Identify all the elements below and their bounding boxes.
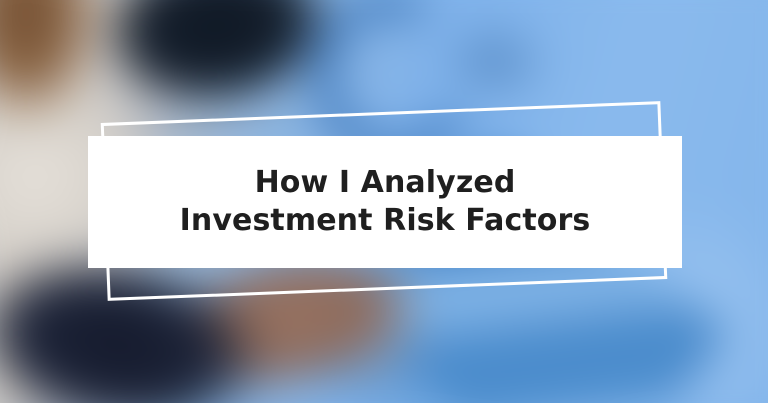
article-header-banner: How I Analyzed Investment Risk Factors [0, 0, 768, 403]
page-title-line-1: How I Analyzed [180, 164, 591, 202]
page-title: How I Analyzed Investment Risk Factors [162, 164, 609, 240]
page-title-line-2: Investment Risk Factors [180, 202, 591, 240]
title-card: How I Analyzed Investment Risk Factors [88, 136, 682, 268]
background-blue-blob [430, 14, 560, 109]
